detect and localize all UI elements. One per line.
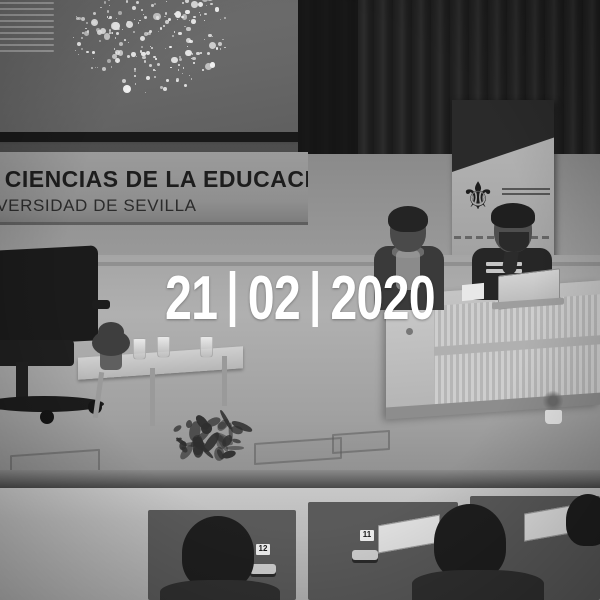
slide-text-lines: [0, 2, 54, 86]
office-chair-back: [0, 245, 98, 345]
seat-handle: [250, 564, 276, 574]
seat-number: 11: [360, 530, 374, 541]
plant-pot: [545, 410, 562, 424]
speaker-two-hair: [491, 203, 535, 228]
screen-bottom-frame: [0, 132, 300, 142]
table-leg: [150, 368, 155, 426]
plant-foliage: [540, 390, 566, 412]
audience-member-shoulders: [160, 580, 280, 600]
desk-knob: [406, 328, 413, 335]
water-glass: [200, 336, 213, 358]
seat-number: 12: [256, 544, 270, 555]
table-leg: [222, 356, 227, 406]
office-chair-seat: [0, 340, 74, 366]
table-plant-foliage: [98, 322, 124, 342]
speaker-one-scarf: [396, 250, 420, 290]
water-bottle: [157, 336, 170, 358]
chair-wheel: [40, 410, 54, 424]
floor-fern-plant: [172, 418, 244, 460]
speaker-two-beard: [499, 232, 529, 252]
sign-faculty-text: E CIENCIAS DE LA EDUCACIÓN: [0, 166, 308, 193]
audience-member-head-with-cap: [434, 504, 506, 580]
office-chair-arm: [92, 300, 110, 309]
audience-row: 12 11 13: [0, 488, 600, 600]
speaker-one-hair: [388, 206, 428, 232]
audience-member-shoulders: [412, 570, 544, 600]
sign-university-text: NIVERSIDAD DE SEVILLA: [0, 196, 197, 216]
desk-paper: [462, 283, 484, 301]
wall-signage: E CIENCIAS DE LA EDUCACIÓN NIVERSIDAD DE…: [0, 152, 308, 225]
audience-member-head: [182, 516, 254, 590]
seat-handle: [352, 550, 378, 560]
audience-member-head: [566, 494, 600, 546]
photograph: E CIENCIAS DE LA EDUCACIÓN NIVERSIDAD DE…: [0, 0, 600, 600]
slide-dot-cluster-graphic: [70, 0, 230, 98]
floor-hatch: [332, 430, 390, 454]
curtain-shadow: [298, 0, 358, 154]
speakers-desk-side: [386, 292, 434, 413]
water-glass: [133, 338, 146, 360]
banner-text-lines: [502, 188, 550, 198]
small-potted-plant: [540, 390, 566, 424]
banner-emblem-icon: ⚜: [458, 178, 498, 234]
banner-dark-area: [452, 100, 554, 172]
projection-screen: [0, 0, 300, 136]
